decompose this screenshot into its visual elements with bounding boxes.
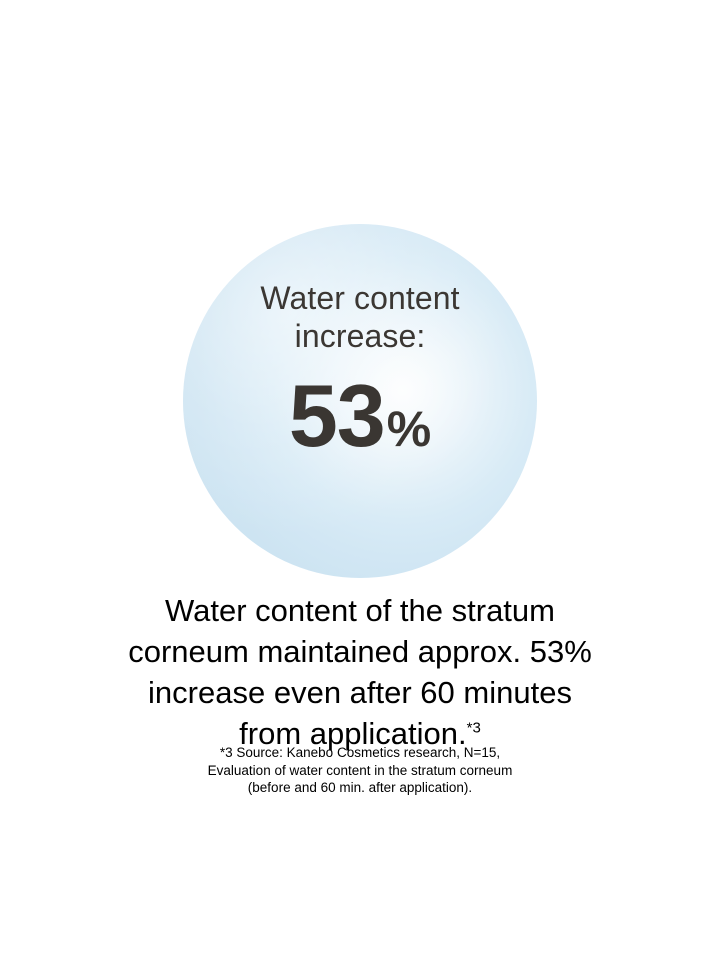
badge-value-unit: % — [387, 404, 431, 454]
body-footnote-marker: *3 — [467, 720, 481, 737]
badge-content: Water content increase: 53 % — [183, 224, 537, 578]
poster-canvas: Water content increase: 53 % Water conte… — [0, 0, 720, 960]
badge-value-number: 53 — [289, 374, 385, 458]
footnote-source: *3 Source: Kanebo Cosmetics research, N=… — [110, 744, 610, 797]
badge-label: Water content increase: — [260, 280, 459, 356]
water-content-badge: Water content increase: 53 % — [183, 224, 537, 578]
badge-value-row: 53 % — [289, 374, 431, 458]
body-paragraph-text: Water content of the stratum corneum mai… — [128, 593, 592, 751]
body-paragraph: Water content of the stratum corneum mai… — [50, 590, 670, 754]
